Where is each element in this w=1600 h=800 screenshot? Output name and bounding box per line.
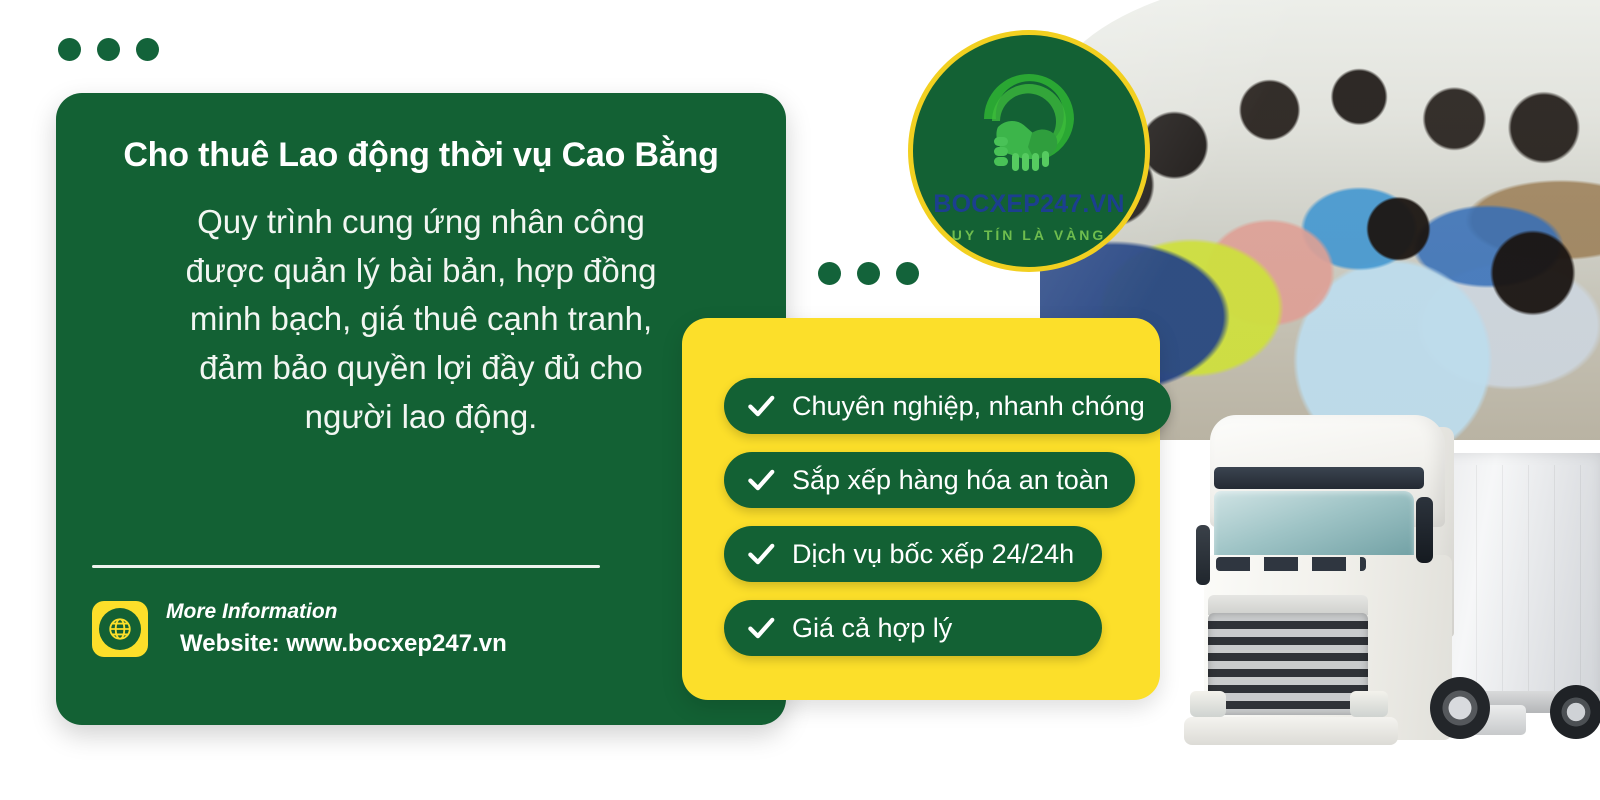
page-title: Cho thuê Lao động thời vụ Cao Bằng xyxy=(98,93,744,176)
truck-grille-top xyxy=(1208,595,1368,615)
truck-mirror-right xyxy=(1416,497,1433,563)
globe-icon-disc xyxy=(99,608,141,650)
feature-label: Sắp xếp hàng hóa an toàn xyxy=(792,465,1109,496)
promo-banner: Cho thuê Lao động thời vụ Cao Bằng Quy t… xyxy=(0,0,1600,800)
dot-icon xyxy=(857,262,880,285)
truck-headlight-right xyxy=(1350,691,1388,717)
globe-icon xyxy=(92,601,148,657)
feature-label: Giá cả hợp lý xyxy=(792,613,952,644)
card-description: Quy trình cung ứng nhân công được quản l… xyxy=(161,176,681,442)
decor-dots-middle xyxy=(818,262,919,285)
dot-icon xyxy=(136,38,159,61)
truck-grille xyxy=(1208,613,1368,715)
logo-name: BOCXEP247.VN xyxy=(913,190,1145,219)
feature-item: Sắp xếp hàng hóa an toàn xyxy=(724,452,1135,508)
truck-trailer-panels xyxy=(1450,465,1600,695)
dot-icon xyxy=(97,38,120,61)
logo-slogan: UY TÍN LÀ VÀNG xyxy=(913,227,1145,243)
contact-text: More Information Website: www.bocxep247.… xyxy=(166,600,507,658)
truck-wheel-front xyxy=(1430,677,1490,739)
dot-icon xyxy=(58,38,81,61)
dot-icon xyxy=(818,262,841,285)
dot-icon xyxy=(896,262,919,285)
truck-wheel-rear xyxy=(1550,685,1600,739)
check-icon xyxy=(746,391,776,421)
truck-sun-visor xyxy=(1214,467,1424,489)
feature-item: Giá cả hợp lý xyxy=(724,600,1102,656)
divider xyxy=(92,565,600,568)
truck-headlight-left xyxy=(1190,691,1226,717)
contact-block: More Information Website: www.bocxep247.… xyxy=(92,600,507,658)
truck-bumper xyxy=(1184,717,1398,745)
truck-windshield xyxy=(1214,491,1414,563)
truck-illustration xyxy=(1150,405,1600,800)
features-list: Chuyên nghiệp, nhanh chóng Sắp xếp hàng … xyxy=(724,378,1164,656)
check-icon xyxy=(746,465,776,495)
more-information-label: More Information xyxy=(166,600,507,624)
website-label[interactable]: Website: www.bocxep247.vn xyxy=(180,630,507,658)
truck-wipers xyxy=(1216,557,1366,571)
check-icon xyxy=(746,539,776,569)
company-logo[interactable]: BOCXEP247.VN UY TÍN LÀ VÀNG xyxy=(913,35,1145,267)
decor-dots-top-left xyxy=(58,38,159,61)
feature-label: Chuyên nghiệp, nhanh chóng xyxy=(792,391,1145,422)
info-card: Cho thuê Lao động thời vụ Cao Bằng Quy t… xyxy=(56,93,786,725)
feature-label: Dịch vụ bốc xếp 24/24h xyxy=(792,539,1074,570)
handshake-circle-icon xyxy=(954,61,1104,196)
check-icon xyxy=(746,613,776,643)
truck-mirror-left xyxy=(1196,525,1210,585)
feature-item: Dịch vụ bốc xếp 24/24h xyxy=(724,526,1102,582)
feature-item: Chuyên nghiệp, nhanh chóng xyxy=(724,378,1171,434)
